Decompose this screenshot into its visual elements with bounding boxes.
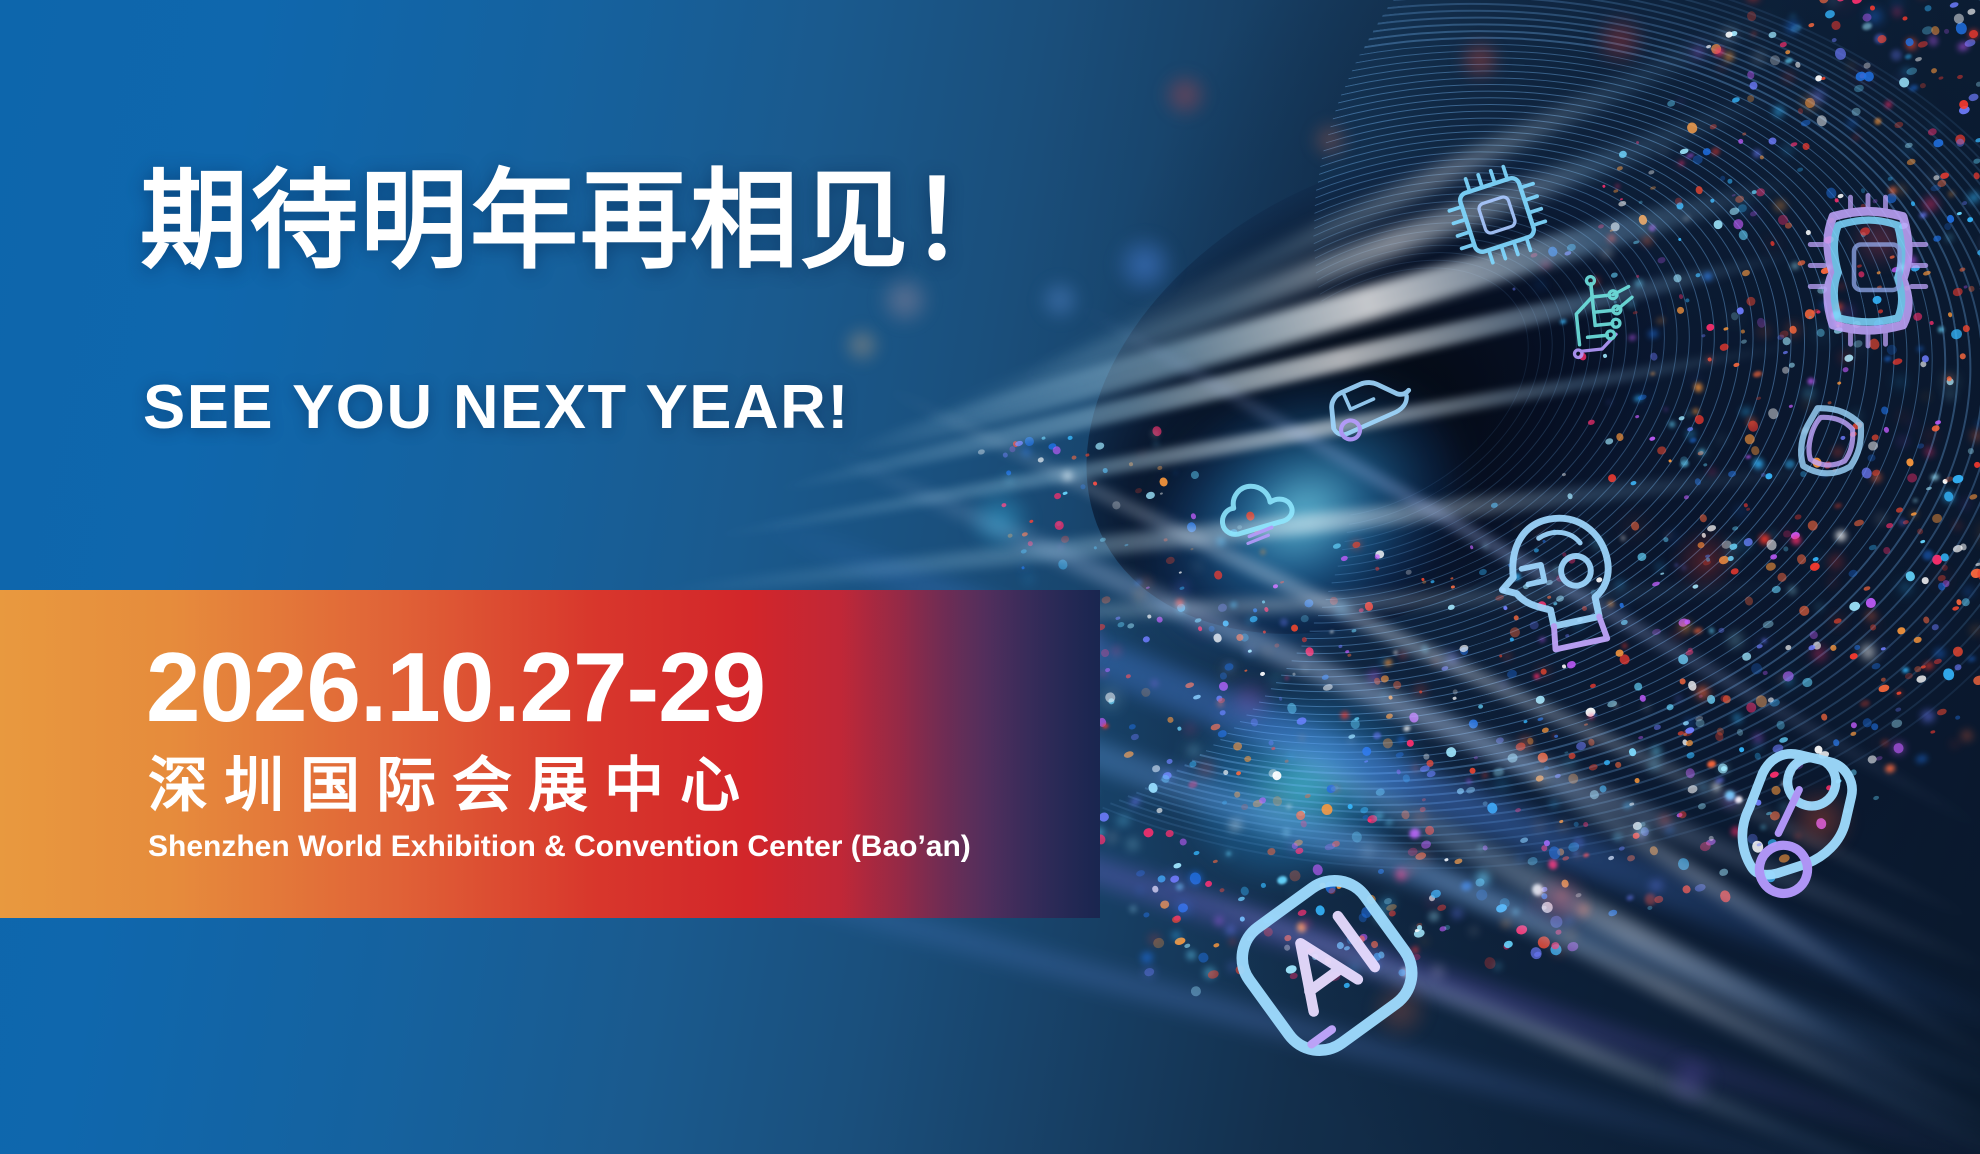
vortex-particle xyxy=(1930,25,1940,35)
vortex-particle xyxy=(1889,48,1903,62)
robot-head-icon xyxy=(1463,480,1659,676)
vortex-particle xyxy=(1861,22,1872,31)
vortex-particle xyxy=(1917,40,1928,48)
vortex-particle xyxy=(1062,491,1067,495)
vortex-particle xyxy=(1902,16,1908,21)
vortex-particle xyxy=(1976,0,1980,2)
vortex-particle xyxy=(1747,0,1759,1)
bokeh-light xyxy=(1037,277,1083,323)
vortex-particle xyxy=(1968,29,1979,39)
vortex-particle xyxy=(1471,929,1476,933)
venue-name-chinese: 深圳国际会展中心 xyxy=(148,756,756,816)
vortex-particle xyxy=(1949,1,1959,9)
vortex-particle xyxy=(1071,455,1077,461)
vortex-particle xyxy=(1052,445,1062,455)
circuit-tree-icon xyxy=(1547,256,1678,378)
vortex-particle xyxy=(1173,862,1182,869)
vortex-particle xyxy=(1212,859,1217,863)
bokeh-light xyxy=(1532,872,1588,928)
vortex-particle xyxy=(1921,710,1934,723)
vortex-particle xyxy=(1908,84,1919,92)
vortex-particle xyxy=(1503,940,1514,949)
vortex-particle xyxy=(1924,5,1932,12)
vortex-particle xyxy=(1006,470,1012,476)
vortex-particle xyxy=(1429,899,1436,905)
vortex-particle xyxy=(1824,9,1836,20)
vortex-particle xyxy=(1452,908,1463,918)
vortex-particle xyxy=(1067,435,1073,440)
bokeh-light xyxy=(842,325,882,365)
microchip-warped-icon xyxy=(1778,178,1958,353)
vortex-particle xyxy=(1943,28,1949,34)
vortex-particle xyxy=(1142,827,1154,838)
vortex-particle xyxy=(1156,616,1164,624)
vortex-particle xyxy=(1054,520,1065,531)
vortex-particle xyxy=(1915,753,1929,764)
vortex-particle xyxy=(1143,967,1155,978)
vortex-particle xyxy=(1869,5,1875,11)
vortex-particle xyxy=(1972,675,1980,686)
vortex-particle xyxy=(1143,912,1151,918)
vortex-particle xyxy=(1127,622,1135,629)
vortex-particle xyxy=(1117,816,1129,825)
bokeh-light xyxy=(1160,70,1210,120)
vortex-particle xyxy=(1828,0,1838,4)
bokeh-light xyxy=(1458,38,1502,82)
vortex-particle xyxy=(1193,850,1200,856)
vortex-particle xyxy=(1494,963,1501,970)
vortex-particle xyxy=(1892,742,1904,755)
vortex-particle xyxy=(1927,34,1939,47)
vortex-particle xyxy=(1427,910,1440,923)
vortex-particle xyxy=(1789,13,1796,19)
bokeh-light xyxy=(1664,1054,1716,1106)
vortex-particle xyxy=(1962,731,1972,741)
vortex-particle xyxy=(1831,37,1837,43)
vortex-particle xyxy=(1021,566,1025,570)
vortex-particle xyxy=(1968,93,1979,102)
vortex-particle xyxy=(1915,56,1923,62)
vortex-particle xyxy=(1053,492,1061,500)
vortex-particle xyxy=(1117,621,1125,628)
bokeh-light xyxy=(1226,676,1274,724)
vortex-particle xyxy=(1165,829,1174,838)
vortex-particle xyxy=(1437,904,1447,912)
vortex-particle xyxy=(1444,924,1451,931)
vortex-particle xyxy=(1936,708,1947,717)
bokeh-light xyxy=(1674,529,1736,591)
vortex-particle xyxy=(1818,0,1829,4)
vortex-particle xyxy=(1109,834,1116,840)
event-banner: 期待明年再相见！ SEE YOU NEXT YEAR! 2026.10.27-2… xyxy=(0,0,1980,1154)
vortex-particle xyxy=(1975,137,1980,143)
vortex-particle xyxy=(1188,871,1202,886)
vortex-particle xyxy=(1647,905,1653,910)
headline-chinese: 期待明年再相见！ xyxy=(140,168,1020,276)
bokeh-light xyxy=(1594,14,1646,66)
event-date: 2026.10.27-29 xyxy=(146,638,765,736)
vortex-particle xyxy=(1967,8,1976,16)
vortex-particle xyxy=(1955,715,1961,720)
vortex-particle xyxy=(1179,838,1188,847)
headline-english: SEE YOU NEXT YEAR! xyxy=(143,372,850,443)
vortex-particle xyxy=(1830,20,1841,31)
vortex-particle xyxy=(1102,723,1109,728)
vortex-particle xyxy=(1930,67,1937,74)
vortex-particle xyxy=(1938,76,1944,81)
vortex-particle xyxy=(1919,83,1926,89)
vortex-particle xyxy=(1879,738,1890,748)
vortex-particle xyxy=(1142,636,1150,644)
bokeh-light xyxy=(967,487,1033,553)
vortex-particle xyxy=(1128,839,1137,849)
vortex-particle xyxy=(1952,742,1958,747)
vortex-particle xyxy=(1930,730,1936,734)
vortex-particle xyxy=(1975,81,1980,87)
vortex-particle xyxy=(1219,888,1225,893)
vortex-particle xyxy=(1892,6,1903,17)
vortex-particle xyxy=(1152,937,1165,950)
vortex-particle xyxy=(1851,0,1863,5)
vortex-particle xyxy=(1836,0,1845,2)
vortex-particle xyxy=(1904,53,1912,60)
vortex-particle xyxy=(1026,577,1032,582)
bokeh-light xyxy=(1113,233,1177,297)
band-right-fade xyxy=(840,590,1100,918)
vortex-particle xyxy=(1958,42,1969,50)
vortex-particle xyxy=(1957,74,1964,80)
venue-name-english: Shenzhen World Exhibition & Convention C… xyxy=(148,832,971,862)
vortex-particle xyxy=(1140,951,1154,965)
vortex-particle xyxy=(1808,22,1815,28)
bokeh-light xyxy=(1309,119,1351,161)
vortex-particle xyxy=(1129,905,1137,913)
vortex-particle xyxy=(1204,880,1213,888)
